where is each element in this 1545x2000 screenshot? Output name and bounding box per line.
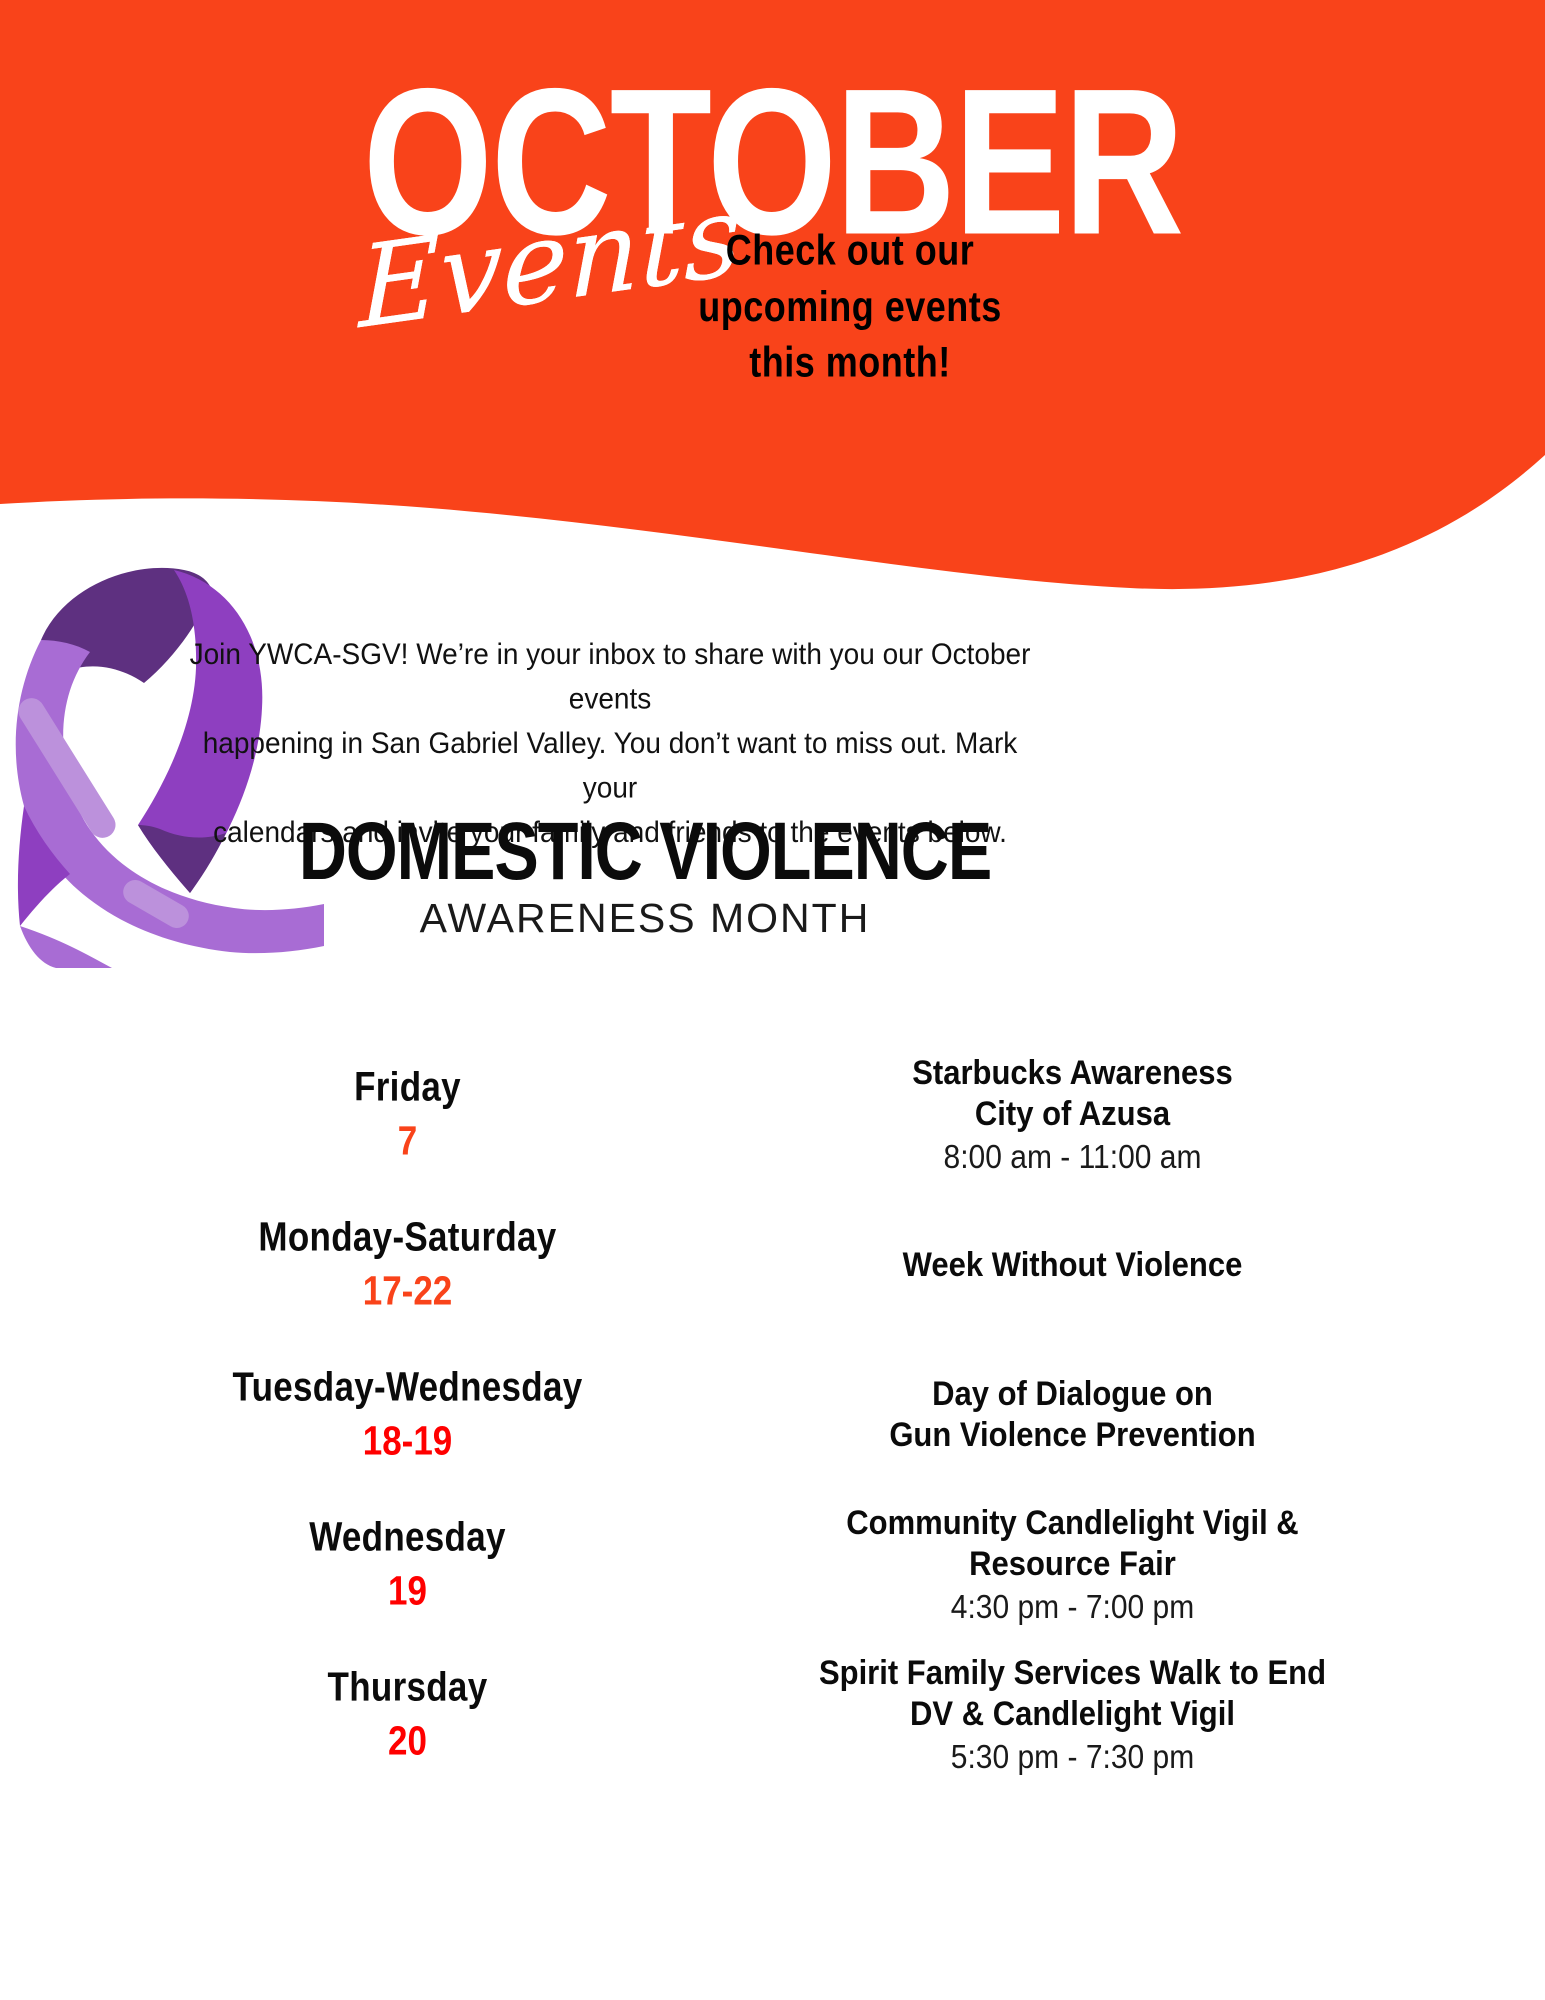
event-date-number: 7 [103,1119,713,1166]
event-details-block: Day of Dialogue onGun Violence Preventio… [723,1374,1423,1456]
event-date-block: Tuesday-Wednesday18-19 [103,1368,723,1463]
tagline-line-3: this month! [655,334,1045,390]
event-row[interactable]: Tuesday-Wednesday18-19Day of Dialogue on… [103,1340,1443,1490]
header-content: OCTOBER Events Check out our upcoming ev… [0,0,1545,470]
event-day-label: Tuesday-Wednesday [103,1365,713,1412]
event-name-line: Community Candlelight Vigil & [723,1501,1423,1546]
event-day-label: Friday [103,1065,713,1112]
event-day-label: Thursday [103,1665,713,1712]
event-name-line: Week Without Violence [723,1243,1423,1288]
event-date-number: 18-19 [103,1419,713,1466]
event-details-block: Spirit Family Services Walk to EndDV & C… [723,1653,1423,1778]
event-date-number: 17-22 [103,1269,713,1316]
event-details-block: Community Candlelight Vigil &Resource Fa… [723,1503,1423,1628]
event-time: 8:00 am - 11:00 am [723,1136,1423,1179]
event-row[interactable]: Thursday20Spirit Family Services Walk to… [103,1640,1443,1790]
event-name-line: Day of Dialogue on [723,1372,1423,1417]
events-list: Friday7Starbucks AwarenessCity of Azusa8… [0,1040,1545,1790]
tagline-line-2: upcoming events [655,278,1045,334]
header-tagline: Check out our upcoming events this month… [655,222,1045,390]
event-date-block: Thursday20 [103,1668,723,1763]
event-name-line: Spirit Family Services Walk to End [723,1651,1423,1696]
event-name-line: Gun Violence Prevention [723,1413,1423,1458]
section-title: DOMESTIC VIOLENCE [229,810,1061,892]
event-details-block: Starbucks AwarenessCity of Azusa8:00 am … [723,1053,1423,1178]
section-subtitle: AWARENESS MONTH [245,898,1045,939]
event-details-block: Week Without Violence [723,1245,1423,1286]
event-name-line: Resource Fair [723,1541,1423,1586]
event-row[interactable]: Wednesday19Community Candlelight Vigil &… [103,1490,1443,1640]
event-date-number: 19 [103,1569,713,1616]
event-date-block: Monday-Saturday17-22 [103,1218,723,1313]
event-row[interactable]: Friday7Starbucks AwarenessCity of Azusa8… [103,1040,1443,1190]
event-name-line: DV & Candlelight Vigil [723,1691,1423,1736]
tagline-line-1: Check out our [655,222,1045,278]
event-date-block: Friday7 [103,1068,723,1163]
event-name-line: Starbucks Awareness [723,1051,1423,1096]
intro-line-1: Join YWCA-SGV! We’re in your inbox to sh… [175,632,1045,721]
event-time: 4:30 pm - 7:00 pm [723,1586,1423,1629]
event-name-line: City of Azusa [723,1091,1423,1136]
event-time: 5:30 pm - 7:30 pm [723,1736,1423,1779]
event-date-number: 20 [103,1719,713,1766]
event-day-label: Monday-Saturday [103,1215,713,1262]
poster-page: OCTOBER Events Check out our upcoming ev… [0,0,1545,2000]
event-date-block: Wednesday19 [103,1518,723,1613]
intro-line-2: happening in San Gabriel Valley. You don… [175,721,1045,810]
event-day-label: Wednesday [103,1515,713,1562]
event-row[interactable]: Monday-Saturday17-22Week Without Violenc… [103,1190,1443,1340]
